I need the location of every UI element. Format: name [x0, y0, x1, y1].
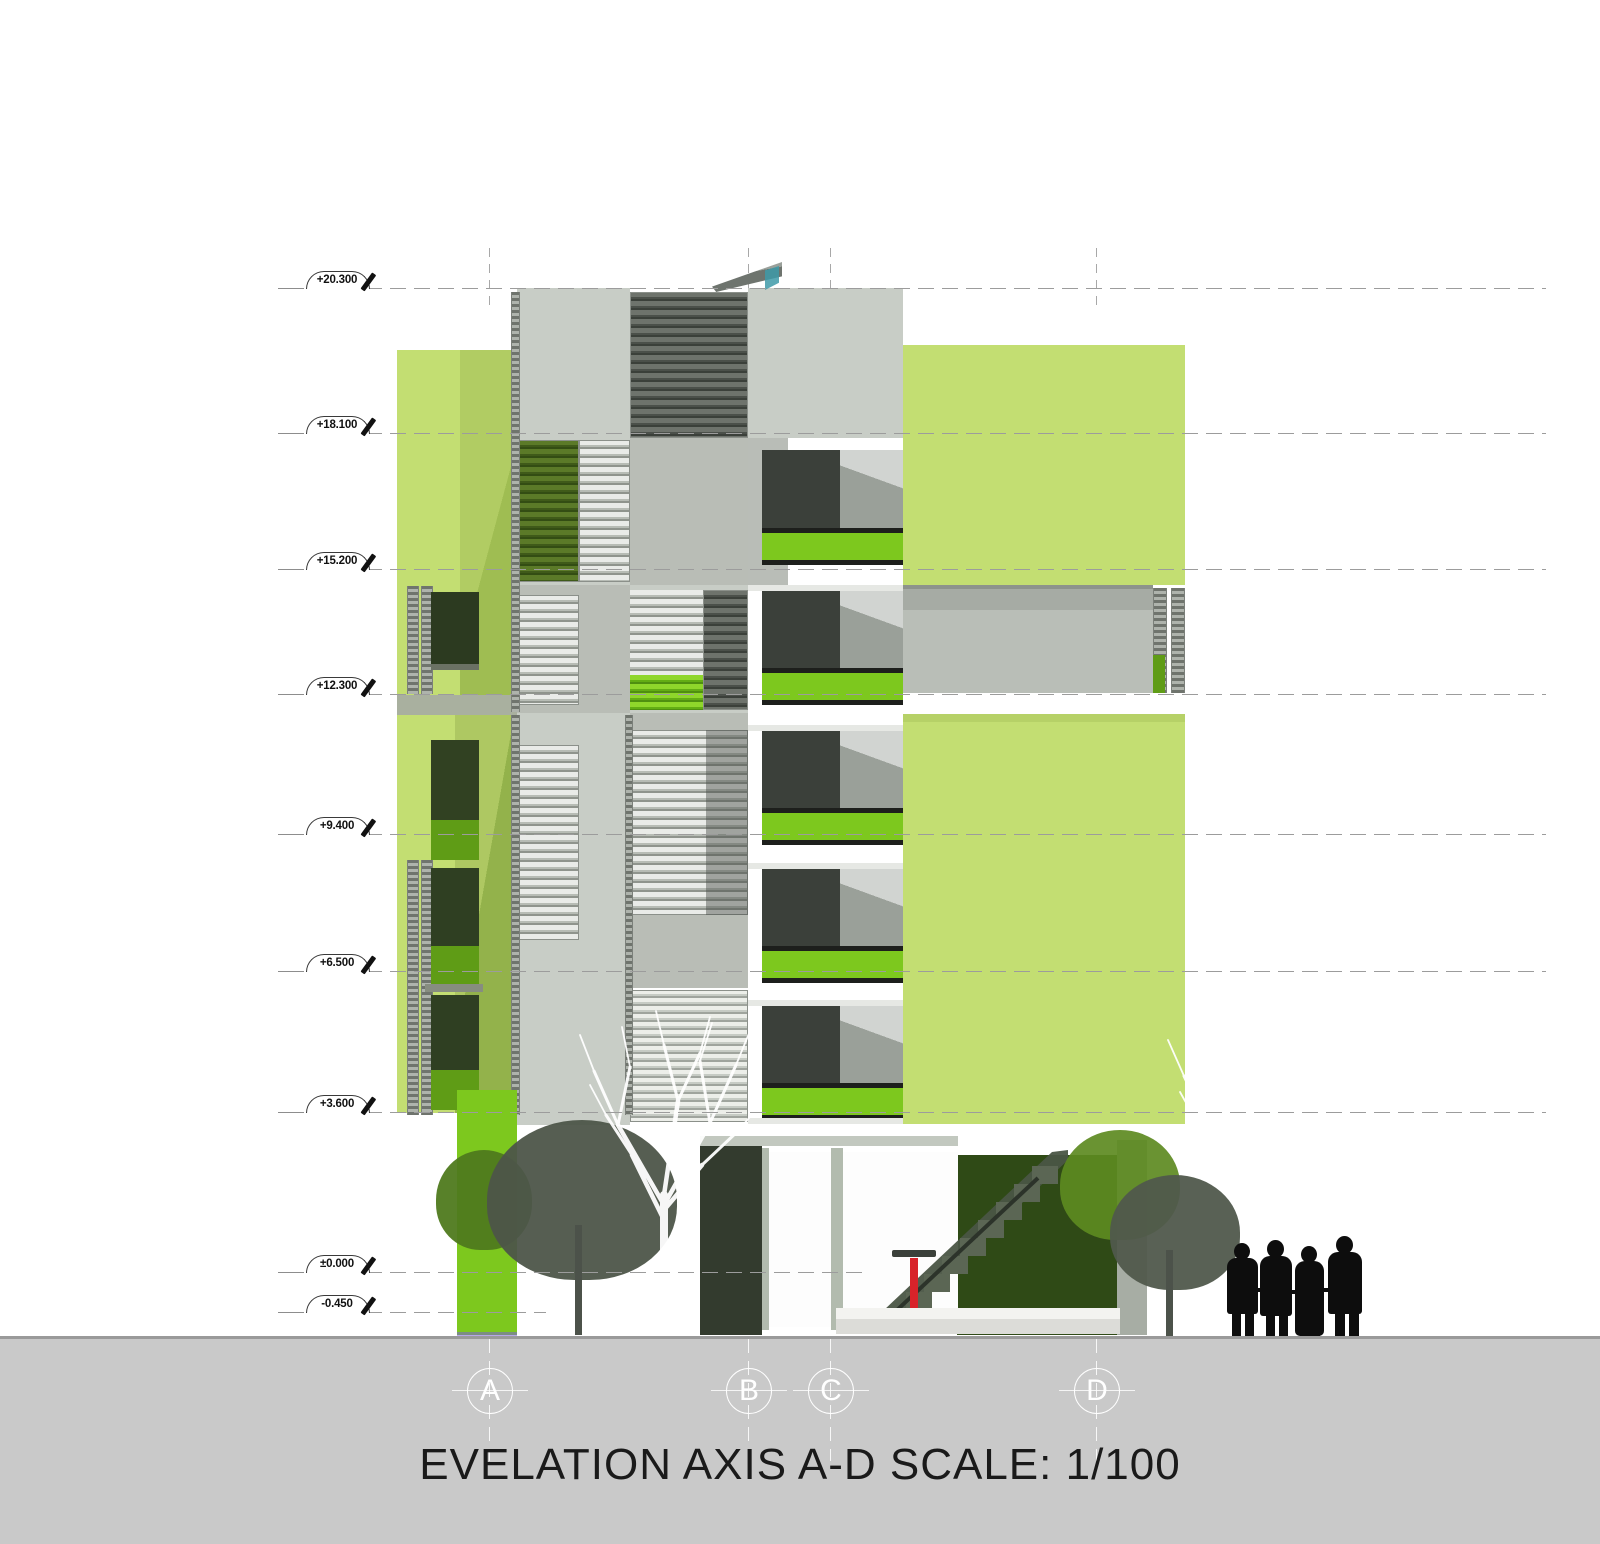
- grid-bubble-label: B: [739, 1374, 759, 1408]
- floor-slab-edge: [748, 1118, 903, 1124]
- facade-recess-left: [397, 695, 517, 715]
- person-arm-link: [1253, 1288, 1262, 1292]
- louver-screen-left-mid: [519, 595, 579, 705]
- level-extension-left: [278, 288, 304, 289]
- level-extension-left: [278, 1312, 304, 1313]
- balcony-left-glass-b: [431, 868, 479, 946]
- grid-bubble-label: C: [820, 1374, 842, 1408]
- balcony-left-glass-a: [431, 592, 479, 664]
- facade-panel-green-mid-right: [903, 714, 1185, 1124]
- level-label: ±0.000: [306, 1258, 368, 1270]
- level-label: +9.400: [306, 820, 368, 832]
- balcony-rail-bottom-shadow: [762, 700, 903, 705]
- level-extension-right: [366, 433, 1546, 434]
- louver-screen-roof: [630, 292, 748, 438]
- entry-step-plinth: [836, 1308, 1120, 1334]
- louver-screen-mid-green: [630, 675, 703, 710]
- balcony-rail: [762, 673, 903, 700]
- hydrant-post-red: [910, 1258, 918, 1310]
- level-extension-left: [278, 1272, 304, 1273]
- grid-bubble-label: A: [480, 1374, 500, 1408]
- person-body: [1295, 1261, 1324, 1336]
- gridline-D-top: [1096, 248, 1097, 308]
- level-label: +3.600: [306, 1098, 368, 1110]
- level-extension-right: [366, 1272, 866, 1273]
- person-body: [1260, 1256, 1292, 1316]
- louver-screen-left-upper-gray: [579, 440, 630, 582]
- grid-bubble-B[interactable]: B: [726, 1368, 772, 1414]
- level-label: +18.100: [306, 419, 368, 431]
- grid-bubble-crosshair: [711, 1390, 787, 1391]
- facade-core-gray-upper: [517, 288, 630, 438]
- balcony-soffit: [840, 1005, 903, 1083]
- balcony-soffit: [840, 450, 903, 528]
- balcony-left-glass-d: [431, 740, 479, 820]
- tree-white-skeleton-left: [560, 1005, 770, 1335]
- level-extension-right: [366, 971, 1546, 972]
- floor-slab-edge: [748, 863, 903, 869]
- grid-bubble-crosshair: [793, 1390, 869, 1391]
- louver-screen-central-big-shadow: [706, 730, 748, 915]
- level-extension-left: [278, 834, 304, 835]
- gridline-A-top: [489, 248, 490, 308]
- balcony-rail: [762, 951, 903, 978]
- facade-panel-green-shadow-right: [903, 714, 1185, 722]
- level-label: +6.500: [306, 957, 368, 969]
- person-arm-link: [1320, 1288, 1329, 1292]
- ground-plane: [0, 1339, 1600, 1418]
- person-body: [1328, 1252, 1362, 1314]
- floor-slab-edge: [748, 1000, 903, 1006]
- balcony-soffit: [840, 868, 903, 946]
- window-dark-glass: [762, 730, 840, 808]
- level-extension-right: [366, 569, 1546, 570]
- level-extension-right: [366, 288, 1546, 289]
- level-extension-left: [278, 433, 304, 434]
- level-label: -0.450: [306, 1298, 368, 1310]
- level-extension-left: [278, 569, 304, 570]
- balcony-left-slab-b: [425, 984, 483, 992]
- balcony-rail: [762, 813, 903, 840]
- balcony-module-row: [748, 730, 903, 835]
- person-legs: [1232, 1311, 1241, 1339]
- louver-screen-mid-right-dark: [703, 590, 748, 710]
- balcony-rail-bottom-shadow: [762, 840, 903, 845]
- balcony-left-glass-c: [431, 995, 479, 1070]
- facade-core-gray-band-a: [630, 438, 748, 585]
- vertical-ladder-screen-right-outer: [1171, 588, 1185, 693]
- louver-screen-left-lower: [519, 745, 579, 940]
- grid-bubble-crosshair: [452, 1390, 528, 1391]
- person-body: [1227, 1258, 1258, 1314]
- window-dark-glass: [762, 450, 840, 528]
- facade-panel-green-upper-right: [903, 345, 1185, 585]
- louver-screen-mid-gray: [630, 590, 703, 675]
- balcony-soffit: [840, 590, 903, 668]
- grid-bubble-label: D: [1086, 1374, 1108, 1408]
- vertical-ladder-screen-core-left: [511, 292, 520, 712]
- louver-screen-left-upper-green: [517, 440, 579, 582]
- balcony-rail: [762, 533, 903, 560]
- window-dark-glass: [762, 1005, 840, 1083]
- vertical-ladder-screen-core-left-lower: [511, 715, 520, 1115]
- balcony-module-row: [748, 590, 903, 695]
- balcony-rail-bottom-shadow: [762, 560, 903, 565]
- facade-core-gray-top-right: [748, 288, 903, 438]
- window-dark-glass: [762, 590, 840, 668]
- entry-mullion-b: [831, 1148, 843, 1330]
- terrace-soffit-line: [903, 585, 1153, 589]
- grid-bubble-crosshair: [1059, 1390, 1135, 1391]
- terrace-recess-light: [903, 610, 1153, 693]
- level-extension-left: [278, 971, 304, 972]
- level-label: +15.200: [306, 555, 368, 567]
- window-dark-glass: [762, 868, 840, 946]
- ladder-green-patch-right: [1153, 655, 1165, 693]
- level-extension-right: [366, 1112, 1546, 1113]
- level-extension-right: [366, 834, 1546, 835]
- floor-slab-edge: [748, 585, 903, 591]
- level-extension-left: [278, 1112, 304, 1113]
- balcony-soffit: [840, 730, 903, 808]
- balcony-module-row: [748, 450, 903, 555]
- floor-slab-edge: [748, 725, 903, 731]
- balcony-rail-bottom-shadow: [762, 978, 903, 983]
- level-label: +20.300: [306, 274, 368, 286]
- drawing-title: EVELATION AXIS A-D SCALE: 1/100: [0, 1440, 1600, 1490]
- person-legs: [1245, 1311, 1254, 1339]
- vertical-ladder-screen-left-c: [407, 860, 419, 1115]
- entry-glazing-left: [768, 1152, 831, 1327]
- vertical-ladder-screen-left-a: [407, 586, 419, 694]
- balcony-left-rail-d: [431, 820, 479, 860]
- balcony-module-row: [748, 868, 903, 973]
- level-extension-right: [366, 1312, 546, 1313]
- grid-bubble-A[interactable]: A: [467, 1368, 513, 1414]
- person-arm-link: [1287, 1290, 1296, 1294]
- balcony-rail: [762, 1088, 903, 1115]
- grid-bubble-C[interactable]: C: [808, 1368, 854, 1414]
- level-label: +12.300: [306, 680, 368, 692]
- balcony-module-row: [748, 1005, 903, 1110]
- balcony-left-rail-a: [431, 664, 479, 670]
- balcony-left-rail-b: [431, 946, 479, 984]
- level-extension-left: [278, 694, 304, 695]
- hydrant-cap-dark: [892, 1250, 936, 1257]
- level-extension-right: [366, 694, 1546, 695]
- grid-bubble-D[interactable]: D: [1074, 1368, 1120, 1414]
- elevation-sheet: +20.300 +18.100 +15.200 +12.300: [0, 0, 1600, 1544]
